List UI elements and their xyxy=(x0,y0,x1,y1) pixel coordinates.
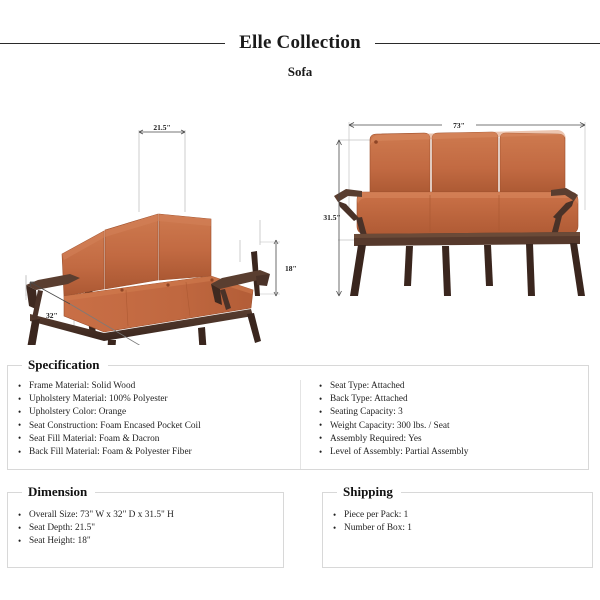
sofa-perspective-figure: 21.5" 18" 32" xyxy=(8,100,304,345)
sofa-front-figure: 73" 31.5" xyxy=(312,100,600,345)
dimension-label-seat-depth: 21.5" xyxy=(153,123,170,132)
list-item: Upholstery Material: 100% Polyester xyxy=(18,393,294,406)
header-rule-right xyxy=(375,43,600,44)
list-item: Number of Box: 1 xyxy=(333,522,586,535)
dimension-label-overall-depth: 32" xyxy=(46,311,58,320)
dimension-panel: Dimension Overall Size: 73" W x 32" D x … xyxy=(7,492,284,568)
specification-list-left: Frame Material: Solid Wood Upholstery Ma… xyxy=(18,380,294,459)
page-header: Elle Collection xyxy=(0,28,600,58)
dimension-label-seat-height: 18" xyxy=(285,264,297,273)
list-item: Piece per Pack: 1 xyxy=(333,509,586,522)
list-item: Weight Capacity: 300 lbs. / Seat xyxy=(319,420,582,433)
list-item: Assembly Required: Yes xyxy=(319,433,582,446)
specification-column-left: Frame Material: Solid Wood Upholstery Ma… xyxy=(8,380,300,469)
list-item: Seating Capacity: 3 xyxy=(319,406,582,419)
dimension-legend: Dimension xyxy=(22,483,95,501)
shipping-legend: Shipping xyxy=(337,483,401,501)
specification-legend: Specification xyxy=(22,356,108,374)
dimension-label-overall-width: 73" xyxy=(453,121,465,130)
shipping-panel: Shipping Piece per Pack: 1 Number of Box… xyxy=(322,492,593,568)
list-item: Seat Depth: 21.5" xyxy=(18,522,277,535)
list-item: Level of Assembly: Partial Assembly xyxy=(319,446,582,459)
list-item: Seat Fill Material: Foam & Dacron xyxy=(18,433,294,446)
sofa-body-front xyxy=(334,130,585,296)
shipping-list: Piece per Pack: 1 Number of Box: 1 xyxy=(333,509,586,535)
list-item: Upholstery Color: Orange xyxy=(18,406,294,419)
sofa-front-illustration: 73" 31.5" xyxy=(312,100,600,345)
list-item: Back Type: Attached xyxy=(319,393,582,406)
dimension-list: Overall Size: 73" W x 32" D x 31.5" H Se… xyxy=(18,509,277,549)
product-subtitle: Sofa xyxy=(0,64,600,80)
list-item: Frame Material: Solid Wood xyxy=(18,380,294,393)
list-item: Seat Construction: Foam Encased Pocket C… xyxy=(18,420,294,433)
sofa-perspective-illustration: 21.5" 18" 32" xyxy=(8,100,304,345)
header-rule-left xyxy=(0,43,225,44)
specification-panel: Specification Frame Material: Solid Wood… xyxy=(7,365,589,470)
specification-list-right: Seat Type: Attached Back Type: Attached … xyxy=(319,380,582,459)
product-illustrations: 21.5" 18" 32" xyxy=(0,100,600,345)
dimension-label-overall-height: 31.5" xyxy=(323,213,340,222)
list-item: Seat Type: Attached xyxy=(319,380,582,393)
page-title: Elle Collection xyxy=(239,32,361,54)
specification-column-right: Seat Type: Attached Back Type: Attached … xyxy=(300,380,588,469)
list-item: Seat Height: 18" xyxy=(18,535,277,548)
sofa-body-perspective xyxy=(26,214,270,345)
list-item: Overall Size: 73" W x 32" D x 31.5" H xyxy=(18,509,277,522)
list-item: Back Fill Material: Foam & Polyester Fib… xyxy=(18,446,294,459)
